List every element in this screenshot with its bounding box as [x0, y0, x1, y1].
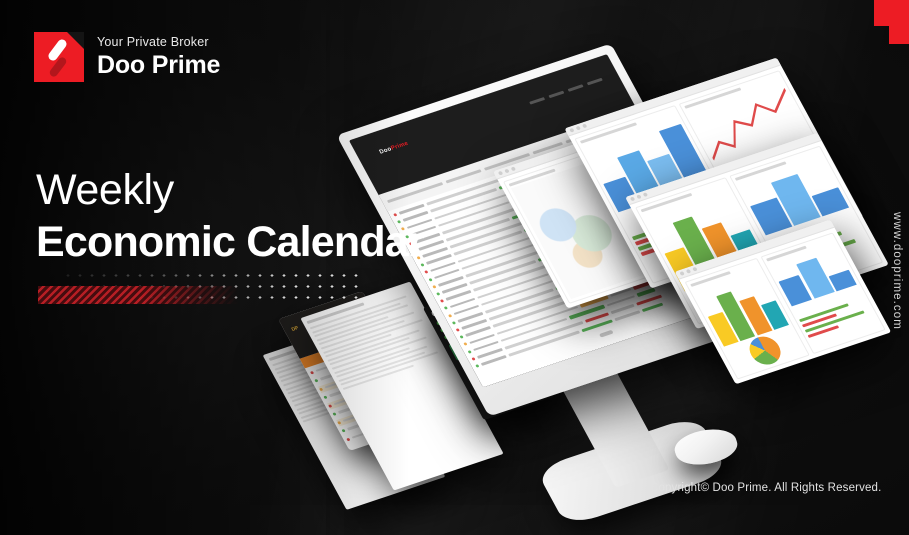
logo-notch: [67, 32, 84, 49]
weekly-economic-calendar-banner: DP: [0, 0, 909, 535]
doo-prime-mark-icon: [34, 32, 84, 82]
red-corner-block: [849, 0, 909, 44]
title-line-2: Economic Calendar: [36, 218, 424, 266]
website-url-vertical[interactable]: www.dooprime.com: [891, 212, 903, 330]
doo-prime-logo[interactable]: Your Private Broker Doo Prime: [34, 32, 220, 82]
copyright-text: Copyright© Doo Prime. All Rights Reserve…: [650, 482, 881, 494]
brand-name: Doo Prime: [97, 53, 220, 78]
page-title: Weekly Economic Calendar: [36, 166, 424, 266]
red-stripe-decoration: [38, 286, 238, 304]
brand-tagline: Your Private Broker: [97, 36, 220, 49]
logo-wordmark: Your Private Broker Doo Prime: [97, 36, 220, 79]
decorative-accents: [38, 268, 368, 310]
title-line-1: Weekly: [36, 166, 424, 214]
